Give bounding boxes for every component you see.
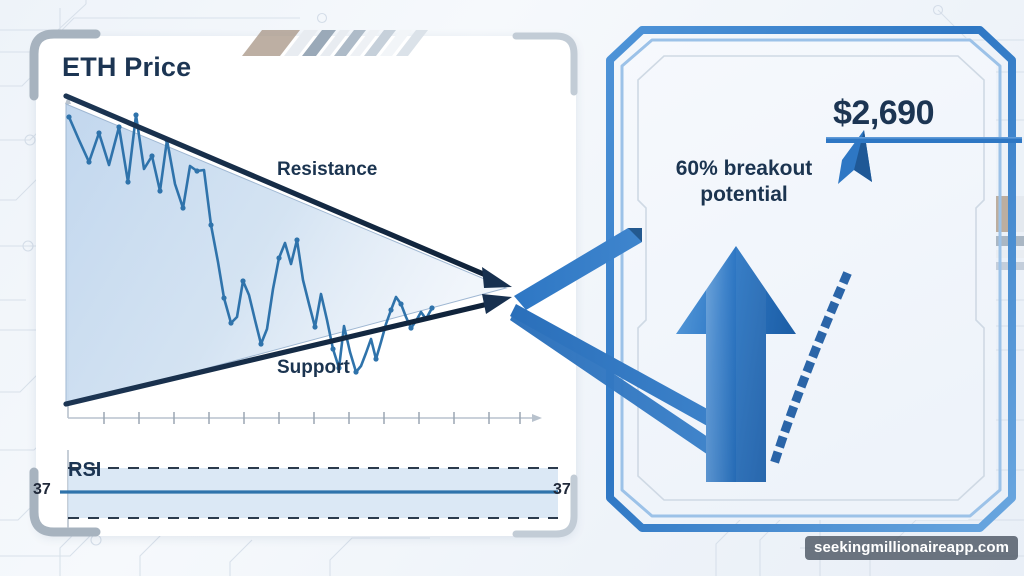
price-target-underline [826,136,1022,146]
breakout-potential-label: 60% breakout potential [644,156,844,208]
rsi-title: RSI [68,460,101,480]
watermark: seekingmillionaireapp.com [805,536,1018,560]
resistance-label: Resistance [277,160,377,179]
price-target-value: $2,690 [833,96,934,130]
support-label: Support [277,358,350,377]
chart-x-axis [68,412,542,424]
rsi-value-left: 37 [33,481,51,499]
breakout-line-2: potential [700,183,788,206]
infographic-stage: ETH Price [0,0,1024,576]
breakout-line-1: 60% breakout [676,157,813,180]
